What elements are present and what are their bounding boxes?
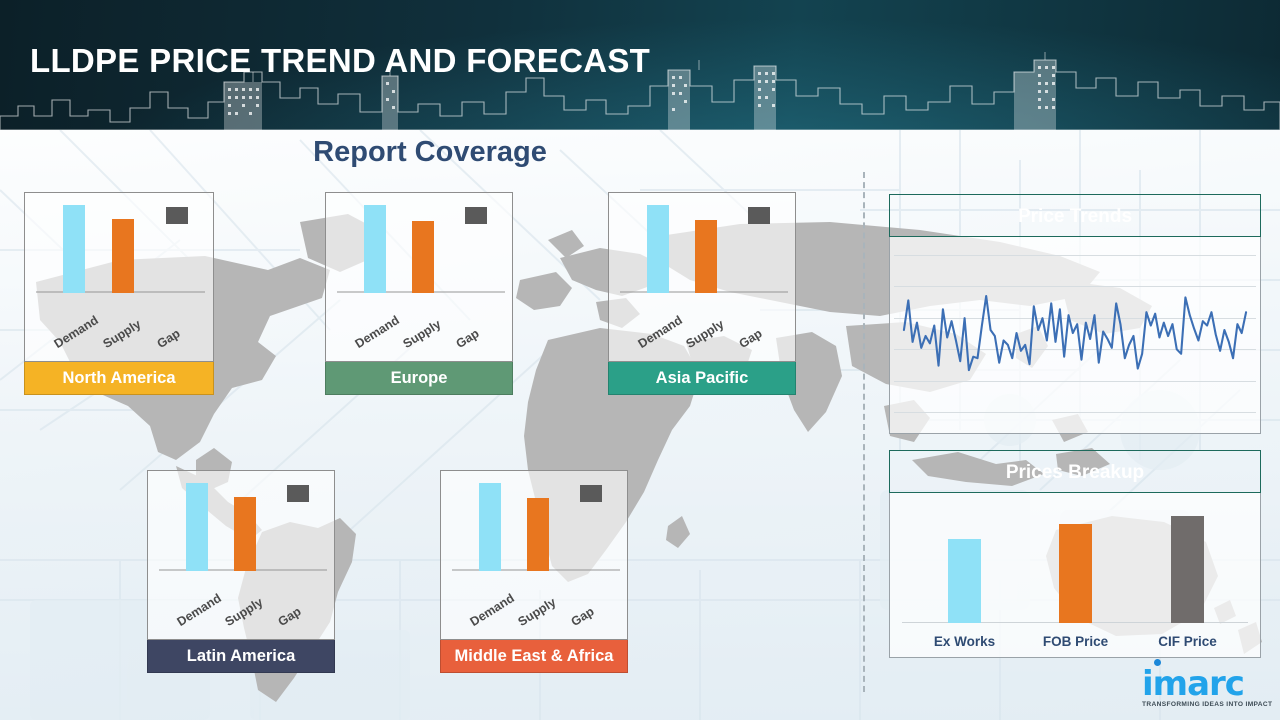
region-title-bar[interactable]: Asia Pacific (608, 361, 796, 395)
chart-bar-label: Demand (175, 591, 224, 629)
header-banner: LLDPE PRICE TREND AND FORECAST (0, 0, 1280, 130)
prices-breakup-chart-area: Ex WorksFOB PriceCIF Price (889, 493, 1261, 658)
logo-dot-icon (1154, 659, 1161, 666)
region-title-bar[interactable]: Europe (325, 361, 513, 395)
logo-wordmark: imarc (1142, 668, 1268, 700)
chart-bar (63, 205, 85, 293)
chart-bar-label: Gap (454, 326, 482, 351)
region-card[interactable]: DemandSupplyGapLatin America (147, 470, 335, 673)
chart-bar (465, 207, 487, 224)
chart-bar-label: Supply (684, 317, 727, 351)
region-card[interactable]: DemandSupplyGapMiddle East & Africa (440, 470, 628, 673)
chart-bar (748, 207, 770, 224)
chart-bar (287, 485, 309, 502)
chart-bar (112, 219, 134, 293)
region-chart-area: DemandSupplyGap (325, 192, 513, 362)
chart-bar (647, 205, 669, 293)
region-title-bar[interactable]: North America (24, 361, 214, 395)
chart-bar-label: Gap (155, 326, 183, 351)
price-bar (948, 539, 981, 623)
region-card[interactable]: DemandSupplyGapAsia Pacific (608, 192, 796, 395)
region-card[interactable]: DemandSupplyGapNorth America (24, 192, 214, 395)
chart-bar (186, 483, 208, 571)
price-bar-label: CIF Price (1139, 634, 1236, 649)
vertical-divider (863, 172, 865, 692)
price-bar-label: FOB Price (1027, 634, 1124, 649)
chart-bar-label: Gap (737, 326, 765, 351)
price-bar-label: Ex Works (916, 634, 1013, 649)
chart-bar-label: Supply (401, 317, 444, 351)
chart-bar (580, 485, 602, 502)
imarc-logo[interactable]: imarc TRANSFORMING IDEAS INTO IMPACT (1142, 668, 1268, 714)
chart-bar-label: Supply (223, 595, 266, 629)
chart-bar (412, 221, 434, 293)
chart-bar (527, 498, 549, 571)
region-title-bar[interactable]: Middle East & Africa (440, 639, 628, 673)
chart-bar-label: Gap (276, 604, 304, 629)
price-bar (1171, 516, 1204, 623)
chart-bar (166, 207, 188, 224)
price-trends-chart-area (889, 237, 1261, 434)
chart-bar-label: Supply (101, 317, 144, 351)
chart-bar (364, 205, 386, 293)
chart-bar (234, 497, 256, 571)
price-bar (1059, 524, 1092, 623)
page-title: LLDPE PRICE TREND AND FORECAST (30, 42, 650, 80)
chart-bar (479, 483, 501, 571)
section-title: Report Coverage (0, 136, 860, 169)
chart-bar-label: Demand (468, 591, 517, 629)
price-trends-line-chart (890, 237, 1260, 433)
region-chart-area: DemandSupplyGap (440, 470, 628, 640)
chart-bar-label: Demand (52, 313, 101, 351)
region-card[interactable]: DemandSupplyGapEurope (325, 192, 513, 395)
region-title-bar[interactable]: Latin America (147, 639, 335, 673)
region-chart-area: DemandSupplyGap (608, 192, 796, 362)
chart-bar-label: Gap (569, 604, 597, 629)
region-chart-area: DemandSupplyGap (147, 470, 335, 640)
region-chart-area: DemandSupplyGap (24, 192, 214, 362)
price-trends-panel: Price Trends (889, 194, 1261, 434)
chart-bar-label: Demand (636, 313, 685, 351)
chart-bar-label: Demand (353, 313, 402, 351)
chart-bar-label: Supply (516, 595, 559, 629)
slide: Report Coverage (0, 0, 1280, 720)
price-trends-heading: Price Trends (889, 194, 1261, 237)
chart-bar (695, 220, 717, 293)
prices-breakup-heading: Prices Breakup (889, 450, 1261, 493)
prices-breakup-panel: Prices Breakup Ex WorksFOB PriceCIF Pric… (889, 450, 1261, 658)
